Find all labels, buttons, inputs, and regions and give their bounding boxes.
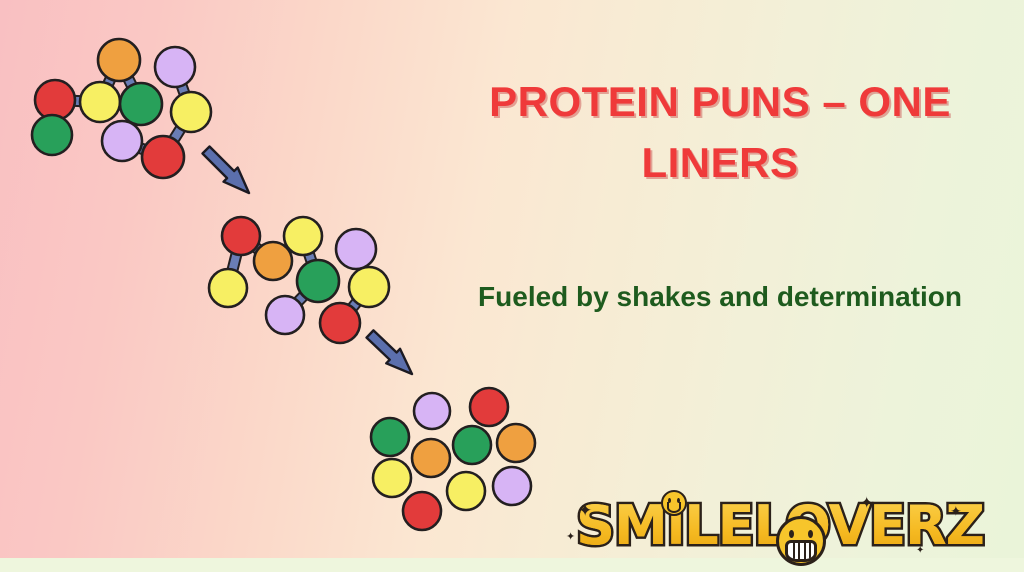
amino-acid-node-purple (102, 121, 142, 161)
amino-acid-node-yellow (284, 217, 322, 255)
smiley-dot-icon (661, 490, 687, 516)
slide-canvas: PROTEIN PUNS – ONE LINERS Fueled by shak… (0, 0, 1024, 572)
sparkle-icon: ✦ (860, 496, 873, 512)
amino-acid-node-red (403, 492, 441, 530)
amino-acid-node-green (120, 83, 162, 125)
amino-acid-node-purple (155, 47, 195, 87)
amino-acid-node-yellow (447, 472, 485, 510)
amino-acid-node-red (320, 303, 360, 343)
amino-acid-node-purple (336, 229, 376, 269)
amino-acid-node-green (297, 260, 339, 302)
molecule-cluster-1 (32, 39, 211, 178)
amino-acid-node-orange (98, 39, 140, 81)
amino-acid-node-orange (254, 242, 292, 280)
molecule-cluster-2 (209, 217, 389, 343)
smiley-grin (785, 540, 817, 562)
process-arrow-icon (363, 327, 419, 381)
sparkle-icon: ✦ (950, 504, 962, 518)
amino-acid-node-yellow (80, 82, 120, 122)
sparkle-icon: ✦ (578, 502, 592, 519)
amino-acid-node-purple (414, 393, 450, 429)
smiley-mouth (667, 502, 681, 513)
molecule-cluster-3 (371, 388, 535, 530)
amino-acid-node-yellow (209, 269, 247, 307)
amino-acid-node-yellow (349, 267, 389, 307)
amino-acid-node-purple (493, 467, 531, 505)
amino-acid-node-green (32, 115, 72, 155)
amino-acid-node-green (371, 418, 409, 456)
amino-acid-node-red (142, 136, 184, 178)
amino-acid-node-yellow (171, 92, 211, 132)
sparkle-icon: ✦ (566, 532, 575, 543)
amino-acid-node-orange (412, 439, 450, 477)
smiley-eye-right (808, 530, 813, 538)
page-title: PROTEIN PUNS – ONE LINERS (430, 72, 1010, 194)
brand-logo[interactable]: SMiLELOVERZ SMiLELOVERZ ✦ ✦ ✦ ✦ ✦ ✦ (560, 488, 1000, 572)
amino-acid-node-yellow (373, 459, 411, 497)
smiley-eye-left (789, 530, 794, 538)
amino-acid-node-purple (266, 296, 304, 334)
page-subtitle: Fueled by shakes and determination (440, 277, 1000, 317)
process-arrow-icon (199, 143, 256, 200)
amino-acid-node-red (470, 388, 508, 426)
amino-acid-node-orange (497, 424, 535, 462)
amino-acid-node-red (222, 217, 260, 255)
sparkle-icon: ✦ (916, 546, 924, 556)
smiley-o-icon (776, 516, 826, 566)
amino-acid-node-green (453, 426, 491, 464)
